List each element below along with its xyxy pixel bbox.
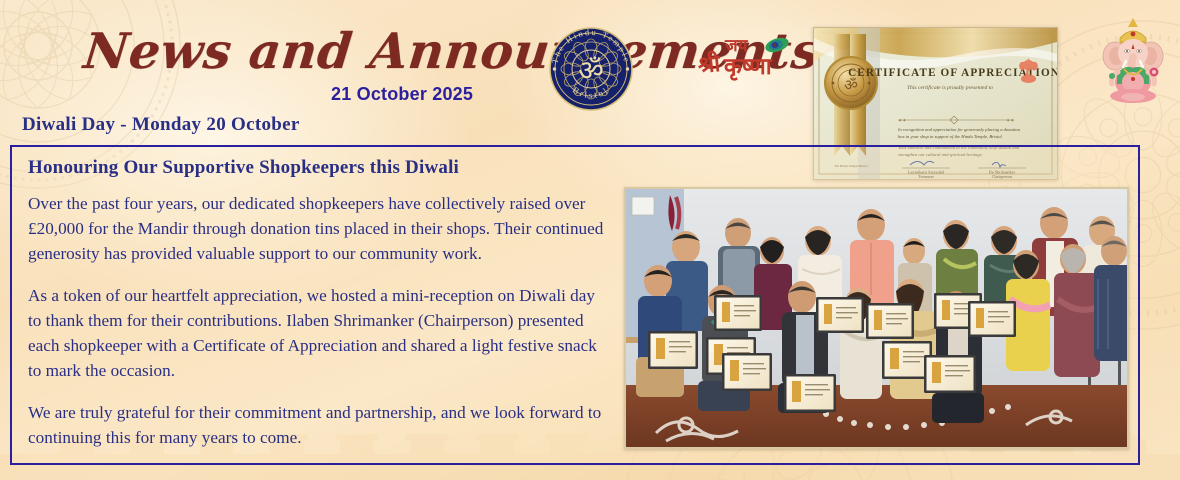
certificate-body-1: In recognition and appreciation for gene… [897, 127, 1021, 132]
temple-logo: ॐ The Hindu Temple Bristol [540, 18, 642, 120]
article-heading: Honouring Our Supportive Shopkeepers thi… [28, 157, 459, 179]
ganesha-illustration [1094, 14, 1172, 106]
certificate-presented-to: This certificate is proudly presented to [907, 84, 993, 91]
article-paragraph-2: As a token of our heartfelt appreciation… [28, 283, 610, 383]
issue-date: 21 October 2025 [331, 84, 473, 105]
article-content-box: Honouring Our Supportive Shopkeepers thi… [10, 145, 1140, 465]
newsletter-page: News and Announcements 21 October 2025 D… [0, 0, 1180, 480]
article-paragraph-1: Over the past four years, our dedicated … [28, 191, 610, 266]
shri-text: श्री [697, 53, 722, 78]
article-paragraph-3: We are truly grateful for their commitme… [28, 400, 610, 450]
group-photo [624, 187, 1129, 449]
peacock-feather-icon [764, 36, 790, 56]
article-body: Over the past four years, our dedicated … [28, 191, 610, 450]
subtitle-diwali-day: Diwali Day - Monday 20 October [22, 114, 300, 136]
krishna-text: कृष्णा [724, 56, 772, 79]
jai-shri-krishna-mark: श्री जय कृष्णा [698, 36, 792, 84]
svg-text:✦✦: ✦✦ [1006, 118, 1014, 124]
svg-text:✦✦: ✦✦ [898, 118, 906, 124]
jai-text: जय [725, 38, 747, 55]
om-symbol: ॐ [578, 54, 604, 87]
